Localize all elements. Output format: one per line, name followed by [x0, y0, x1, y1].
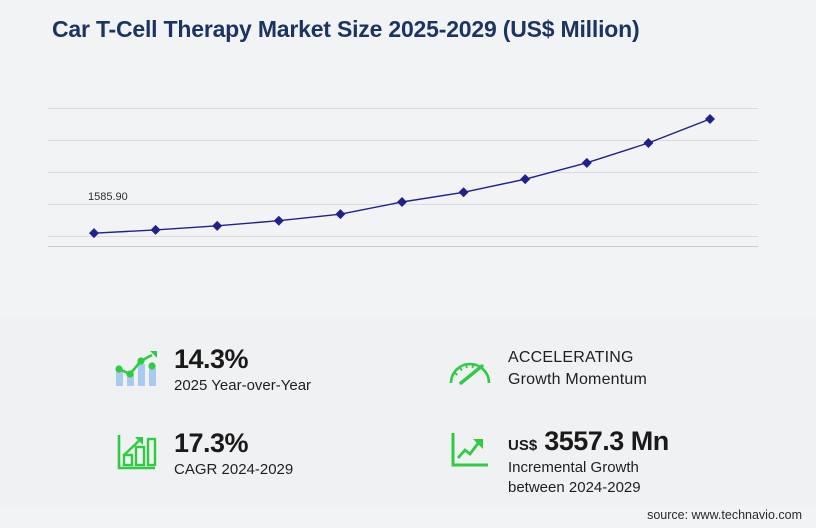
incremental-line-2: between 2024-2029 [508, 478, 669, 498]
trend-up-icon [446, 426, 494, 474]
line-chart: 1585.90 20192020202120222023202420252026… [0, 88, 816, 288]
momentum-line-2: Growth Momentum [508, 369, 647, 391]
incremental-line-1: Incremental Growth [508, 458, 669, 478]
bar-chart-arrow-icon [112, 428, 160, 476]
stat-incremental-growth: US$ 3557.3 Mn Incremental Growth between… [446, 426, 669, 498]
stat-caption: 2025 Year-over-Year [174, 376, 311, 396]
page-title: Car T-Cell Therapy Market Size 2025-2029… [52, 16, 639, 43]
momentum-line-1: ACCELERATING [508, 347, 647, 369]
incremental-amount: 3557.3 Mn [544, 426, 669, 456]
data-label-2019: 1585.90 [88, 191, 128, 203]
stat-caption: CAGR 2024-2029 [174, 460, 293, 480]
stat-year-over-year: 14.3% 2025 Year-over-Year [112, 344, 311, 396]
stat-growth-momentum: ACCELERATING Growth Momentum [446, 346, 647, 394]
series-car-t-cell-market [48, 96, 758, 256]
growth-bars-icon [112, 344, 160, 392]
stat-value: 17.3% [174, 429, 293, 457]
source-attribution: source: www.technavio.com [647, 508, 802, 522]
currency-unit: US$ [508, 437, 537, 454]
stat-cagr: 17.3% CAGR 2024-2029 [112, 428, 293, 480]
stat-value: 14.3% [174, 345, 311, 373]
speedometer-icon [446, 346, 494, 394]
stats-panel: 14.3% 2025 Year-over-Year 17.3% CAGR 202… [0, 318, 816, 506]
stat-value: US$ 3557.3 Mn [508, 427, 669, 455]
infographic-page: Car T-Cell Therapy Market Size 2025-2029… [0, 0, 816, 528]
